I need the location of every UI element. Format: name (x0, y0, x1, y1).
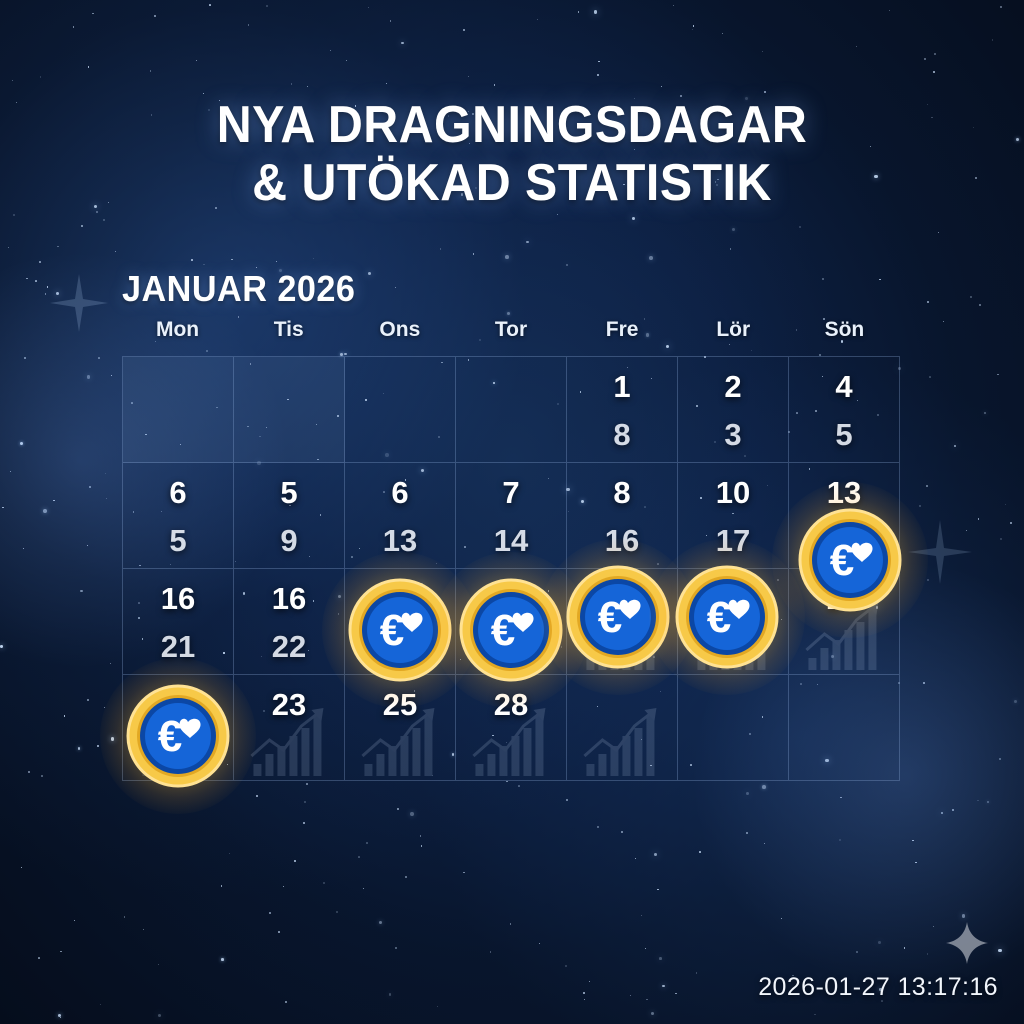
poster-canvas: NYA DRAGNINGSDAGAR & UTÖKAD STATISTIK JA… (0, 0, 1024, 1024)
weekday-header-ons: Ons (344, 318, 455, 356)
svg-text:€: € (158, 712, 182, 761)
calendar-cell[interactable]: 45 (789, 357, 900, 463)
day-number-primary: 5 (234, 475, 344, 511)
timestamp-label: 2026-01-27 13:17:16 (758, 973, 998, 1002)
day-number-primary: 1 (567, 369, 677, 405)
calendar-cell[interactable] (123, 357, 234, 463)
weekday-header-fre: Fre (567, 318, 678, 356)
weekday-header-mon: Mon (122, 318, 233, 356)
day-number-primary: 8 (567, 475, 677, 511)
coin-son-row2[interactable]: € (798, 508, 902, 612)
day-number-secondary: 5 (789, 417, 899, 453)
calendar-cell[interactable] (456, 357, 567, 463)
svg-text:€: € (491, 606, 515, 655)
euro-heart-coin-icon: € (126, 684, 230, 788)
calendar-cell[interactable] (234, 357, 345, 463)
calendar-cell[interactable] (789, 675, 900, 781)
statistics-bar-chart-watermark-icon (582, 706, 668, 778)
day-number-secondary: 9 (234, 523, 344, 559)
calendar-cell[interactable]: 18 (567, 357, 678, 463)
coin-lor-row3[interactable]: € (675, 565, 779, 669)
star-burst-icon-left (44, 268, 114, 338)
euro-heart-coin-icon: € (675, 565, 779, 669)
day-number-primary: 6 (345, 475, 455, 511)
svg-text:€: € (380, 606, 404, 655)
day-number-primary: 6 (123, 475, 233, 511)
svg-text:€: € (830, 536, 854, 585)
coin-mon-row4[interactable]: € (126, 684, 230, 788)
weekday-header-sön: Sön (789, 318, 900, 356)
day-number-primary: 2 (678, 369, 788, 405)
svg-text:€: € (707, 593, 731, 642)
weekday-header-row: MonTisOnsTorFreLörSön (122, 318, 900, 356)
day-number-secondary: 3 (678, 417, 788, 453)
day-number-secondary: 5 (123, 523, 233, 559)
day-number-primary: 4 (789, 369, 899, 405)
weekday-header-tor: Tor (455, 318, 566, 356)
day-number-primary: 16 (123, 581, 233, 617)
day-number-primary: 10 (678, 475, 788, 511)
month-label: JANUAR 2026 (122, 268, 355, 310)
calendar-cell[interactable]: 59 (234, 463, 345, 569)
calendar-cell[interactable]: 65 (123, 463, 234, 569)
calendar-cell[interactable] (345, 357, 456, 463)
title-line-1: NYA DRAGNINGSDAGAR (217, 96, 808, 154)
weekday-header-tis: Tis (233, 318, 344, 356)
calendar-cell[interactable]: 23 (678, 357, 789, 463)
page-title: NYA DRAGNINGSDAGAR & UTÖKAD STATISTIK (36, 96, 988, 212)
svg-text:€: € (598, 593, 622, 642)
euro-heart-coin-icon: € (798, 508, 902, 612)
day-number-secondary: 8 (567, 417, 677, 453)
title-line-2: & UTÖKAD STATISTIK (36, 154, 988, 212)
weekday-header-lör: Lör (678, 318, 789, 356)
four-point-sparkle-icon (944, 920, 990, 966)
day-number-primary: 7 (456, 475, 566, 511)
